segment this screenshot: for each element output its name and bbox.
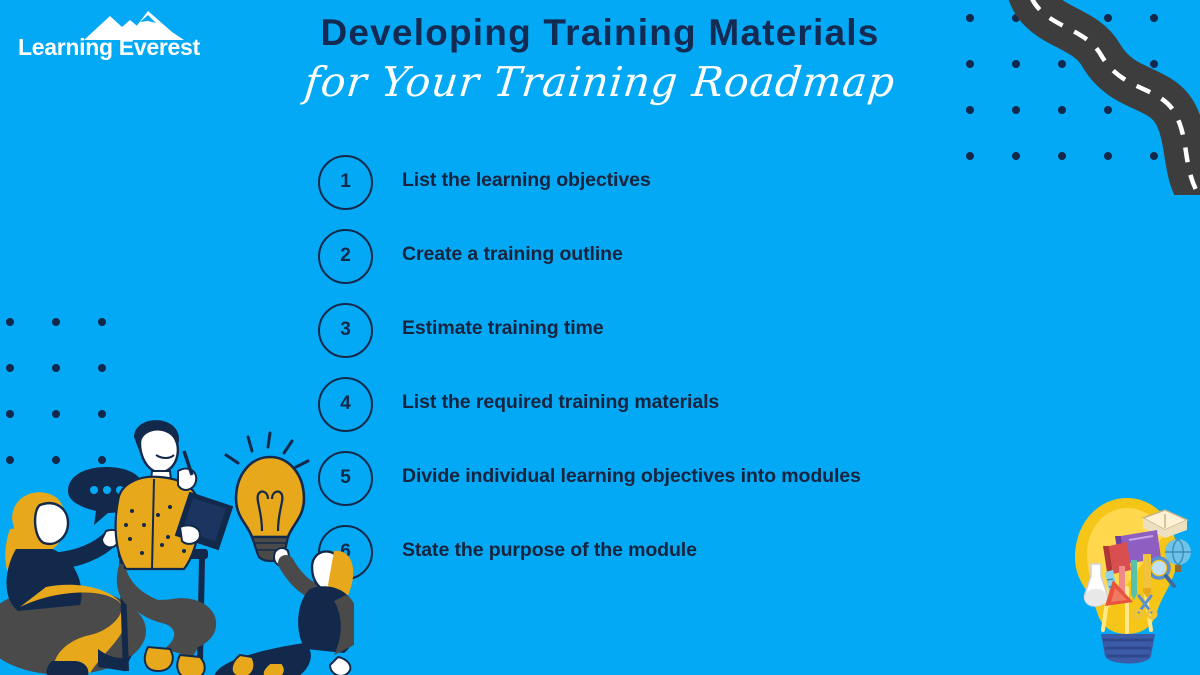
step-label: Divide individual learning objectives in… bbox=[402, 463, 872, 489]
people-collaborating-illustration bbox=[0, 409, 354, 675]
step-label: State the purpose of the module bbox=[402, 537, 872, 563]
decorative-dot bbox=[98, 364, 106, 372]
decorative-dot bbox=[98, 318, 106, 326]
step-number-badge: 1 bbox=[318, 155, 373, 210]
decorative-dot bbox=[6, 318, 14, 326]
decorative-dot bbox=[52, 318, 60, 326]
step-item[interactable]: 5Divide individual learning objectives i… bbox=[318, 451, 878, 513]
step-number-badge: 3 bbox=[318, 303, 373, 358]
infographic-canvas: Learning Everest Developing Training Mat… bbox=[0, 0, 1200, 675]
step-item[interactable]: 4List the required training materials bbox=[318, 377, 878, 439]
page-subtitle: for Your Training Roadmap bbox=[0, 58, 1200, 106]
step-number-badge: 2 bbox=[318, 229, 373, 284]
idea-bulb-icon bbox=[226, 433, 308, 561]
step-label: List the learning objectives bbox=[402, 167, 872, 193]
step-item[interactable]: 1List the learning objectives bbox=[318, 155, 878, 217]
step-item[interactable]: 2Create a training outline bbox=[318, 229, 878, 291]
decorative-dot bbox=[6, 364, 14, 372]
step-item[interactable]: 3Estimate training time bbox=[318, 303, 878, 365]
step-label: Estimate training time bbox=[402, 315, 872, 341]
lightbulb-with-school-supplies-illustration bbox=[1047, 488, 1192, 673]
step-label: List the required training materials bbox=[402, 389, 872, 415]
decorative-dot bbox=[52, 364, 60, 372]
page-title: Developing Training Materials bbox=[0, 12, 1200, 54]
step-label: Create a training outline bbox=[402, 241, 872, 267]
step-item[interactable]: 6State the purpose of the module bbox=[318, 525, 878, 587]
